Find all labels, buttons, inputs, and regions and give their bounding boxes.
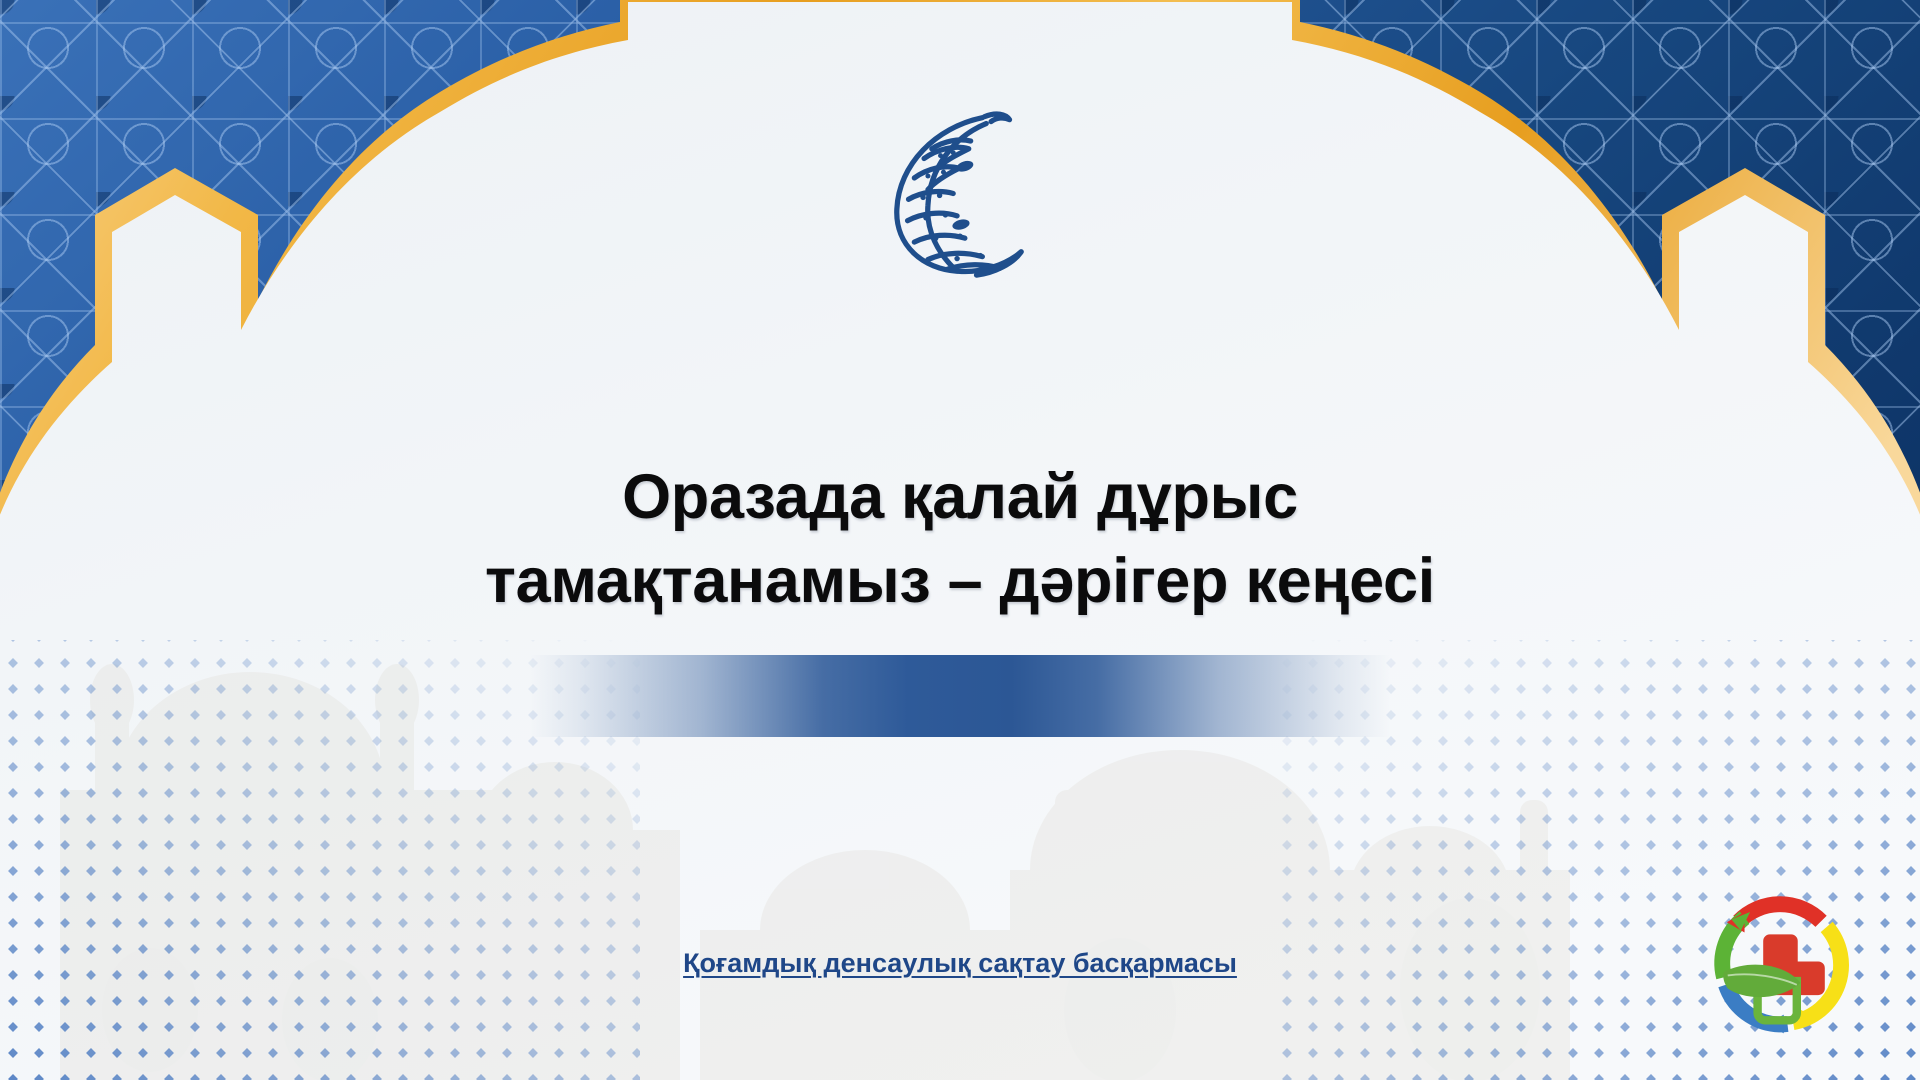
slide-title: Оразада қалай дұрыс тамақтанамыз – дәріг… [330, 455, 1590, 624]
organization-link[interactable]: Қоғамдық денсаулық сақтау басқармасы [683, 948, 1237, 979]
slide-canvas: Оразада қалай дұрыс тамақтанамыз – дәріг… [0, 0, 1920, 1080]
title-line-1: Оразада қалай дұрыс [330, 455, 1590, 539]
title-line-2: тамақтанамыз – дәрігер кеңесі [330, 539, 1590, 623]
title-underline-bar [530, 655, 1390, 737]
logo-arc-red [1739, 904, 1821, 921]
ramadan-calligraphy-crescent [865, 108, 1055, 278]
public-health-logo [1696, 884, 1864, 1052]
